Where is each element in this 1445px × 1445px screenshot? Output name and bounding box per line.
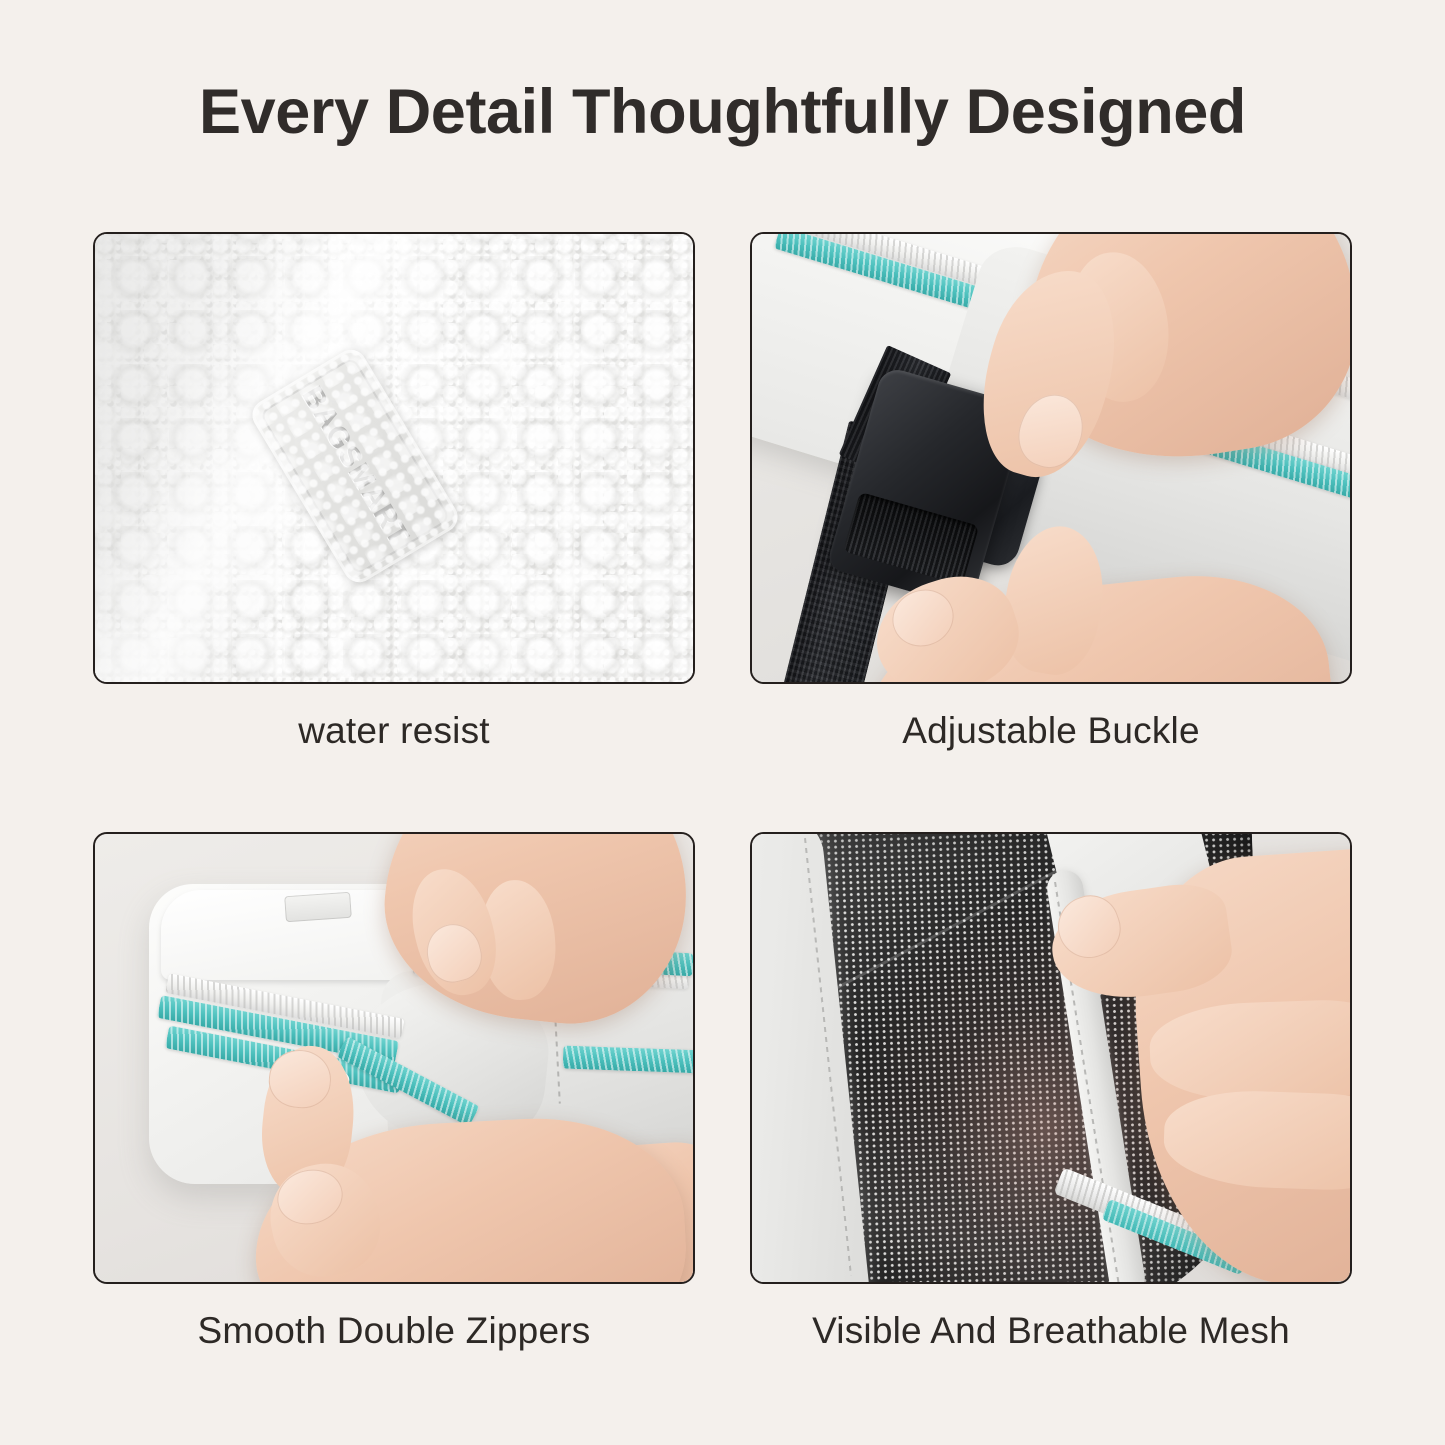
feature-photo-breathable-mesh [750,832,1352,1284]
feature-card-smooth-double-zippers: Smooth Double Zippers [93,832,695,1352]
feature-caption-water-resist: water resist [93,710,695,752]
brand-label-tag [284,892,352,923]
product-feature-infographic: Every Detail Thoughtfully Designed BAGSM… [0,0,1445,1445]
feature-caption-smooth-double-zippers: Smooth Double Zippers [93,1310,695,1352]
feature-card-adjustable-buckle: BAGS Adjustable Buckle [750,232,1352,752]
feature-grid: BAGSMART water resist BAGS [93,232,1352,1352]
feature-caption-adjustable-buckle: Adjustable Buckle [750,710,1352,752]
feature-card-breathable-mesh: Visible And Breathable Mesh [750,832,1352,1352]
page-title: Every Detail Thoughtfully Designed [0,78,1445,147]
feature-photo-water-resist: BAGSMART [93,232,695,684]
feature-card-water-resist: BAGSMART water resist [93,232,695,752]
feature-photo-smooth-double-zippers [93,832,695,1284]
feature-photo-adjustable-buckle: BAGS [750,232,1352,684]
feature-caption-breathable-mesh: Visible And Breathable Mesh [750,1310,1352,1352]
